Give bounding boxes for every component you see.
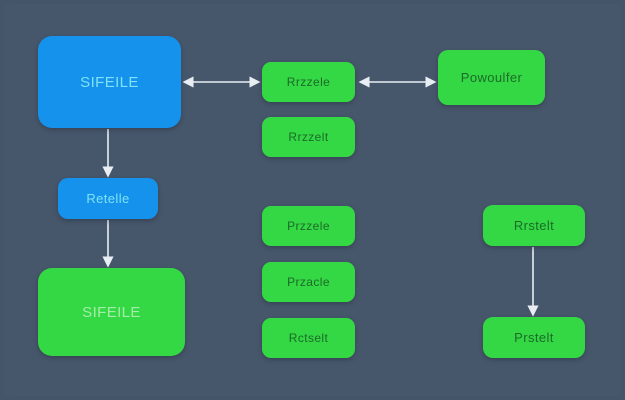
node-rctselt[interactable]: Rctselt: [262, 318, 355, 358]
node-label: Rctselt: [289, 331, 328, 345]
node-rrzzele[interactable]: Rrzzele: [262, 62, 355, 102]
node-rrstelt[interactable]: Rrstelt: [483, 205, 585, 246]
node-powoulfer[interactable]: Powoulfer: [438, 50, 545, 105]
node-label: Rrzzelt: [288, 130, 328, 144]
node-label: Powoulfer: [461, 70, 522, 85]
node-label: SIFEILE: [82, 304, 141, 321]
node-label: Rrzzele: [287, 75, 330, 89]
node-sifeile[interactable]: SIFEILE: [38, 36, 181, 128]
node-label: SIFEILE: [80, 74, 139, 91]
node-przacle[interactable]: Przacle: [262, 262, 355, 302]
node-sifeile[interactable]: SIFEILE: [38, 268, 185, 356]
node-przzele[interactable]: Przzele: [262, 206, 355, 246]
node-rrzzelt[interactable]: Rrzzelt: [262, 117, 355, 157]
node-label: Prstelt: [514, 330, 554, 345]
node-label: Przacle: [287, 275, 330, 289]
node-label: Rrstelt: [514, 218, 554, 233]
node-retelle[interactable]: Retelle: [58, 178, 158, 219]
diagram-canvas: SIFEILERrzzelePowoulferRrzzeltRetellePrz…: [0, 0, 625, 400]
node-label: Przzele: [287, 219, 330, 233]
node-label: Retelle: [86, 191, 129, 206]
node-prstelt[interactable]: Prstelt: [483, 317, 585, 358]
